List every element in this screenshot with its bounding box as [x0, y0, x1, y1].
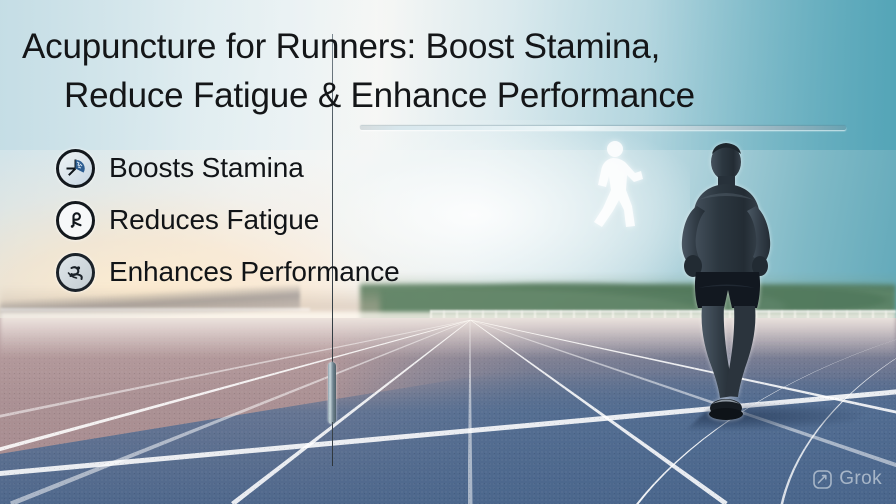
list-item-label: Boosts Stamina: [109, 152, 304, 184]
list-item-label: Reduces Fatigue: [109, 204, 319, 236]
list-item: Reduces Fatigue: [56, 194, 526, 246]
list-item-label: Enhances Performance: [109, 256, 400, 288]
promotional-graphic: Acupuncture for Runners: Boost Stamina,R…: [0, 0, 896, 504]
white-running-man-icon: [583, 138, 645, 234]
dark-runner-silhouette: [668, 138, 786, 428]
needle-spiral-badge-icon: [56, 201, 95, 240]
list-item: Boosts Stamina: [56, 142, 526, 194]
grok-watermark-label: Grok: [839, 468, 882, 490]
moxibustion-badge-icon: [56, 253, 95, 292]
acupuncture-needle-divider: [360, 126, 846, 130]
title-line-1: Acupuncture for Runners: Boost Stamina,: [22, 27, 660, 66]
needle-grip: [328, 362, 336, 424]
grok-watermark: Grok: [813, 468, 882, 490]
page-title: Acupuncture for Runners: Boost Stamina,R…: [22, 22, 874, 120]
title-line-2: Reduce Fatigue & Enhance Performance: [64, 71, 695, 120]
list-item: Enhances Performance: [56, 246, 526, 298]
needle-tip: [332, 422, 333, 466]
grok-logo-icon: [813, 470, 832, 489]
acupuncture-point-badge-icon: [56, 149, 95, 188]
benefits-list: Boosts Stamina Reduces Fatigue: [56, 142, 526, 298]
